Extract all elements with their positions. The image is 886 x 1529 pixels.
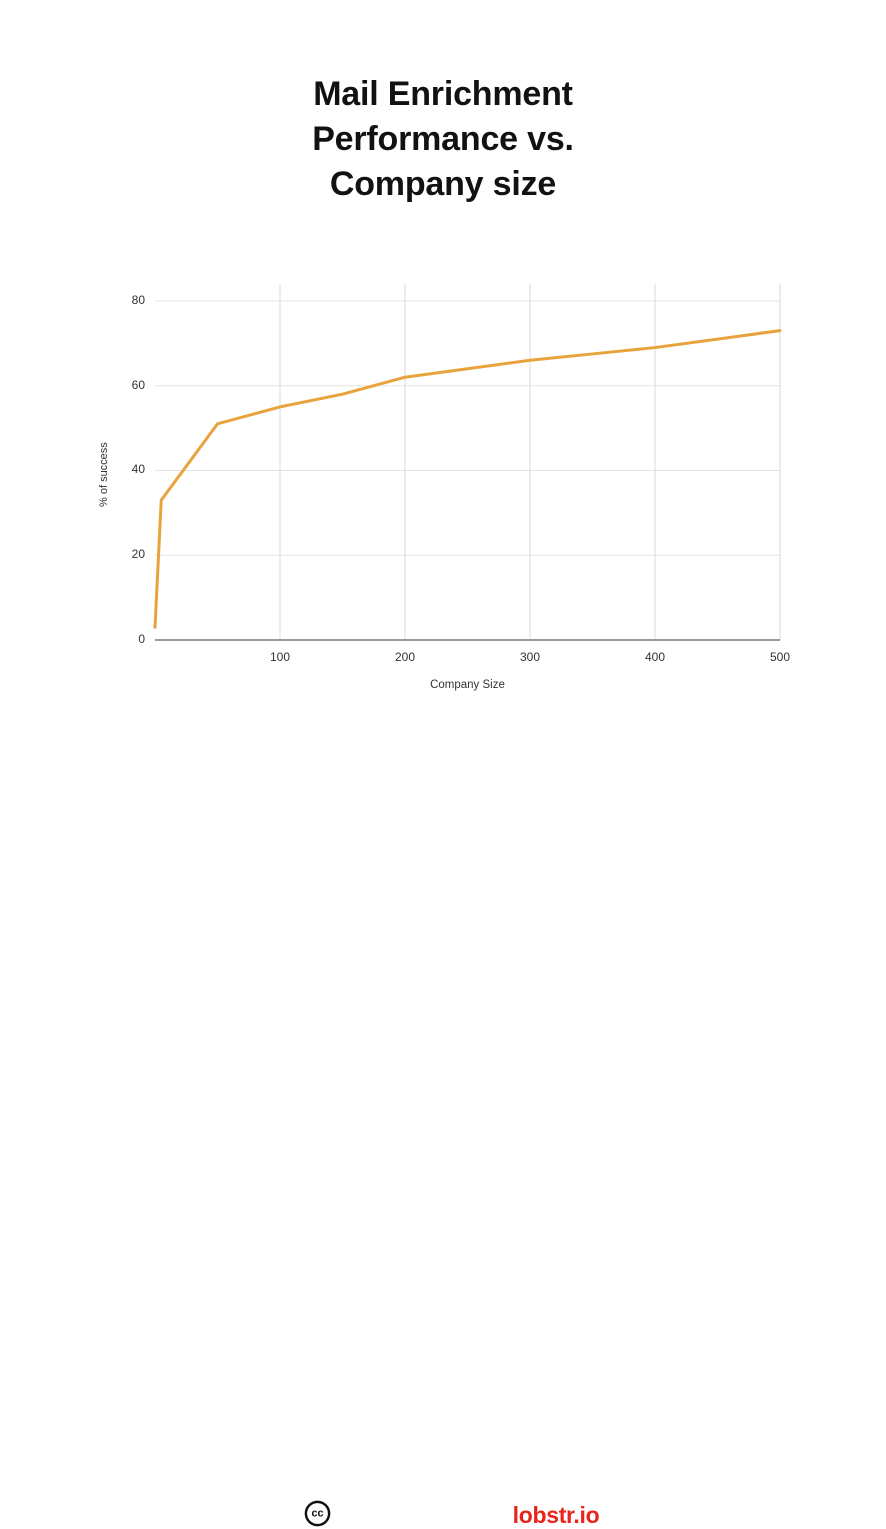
data-series-line xyxy=(155,331,780,628)
x-tick-label: 100 xyxy=(255,650,305,664)
x-tick-label: 200 xyxy=(380,650,430,664)
x-tick-label: 400 xyxy=(630,650,680,664)
y-tick-label: 20 xyxy=(111,547,145,561)
svg-text:cc: cc xyxy=(311,1508,323,1520)
creative-commons-icon: cc xyxy=(304,1500,331,1527)
line-chart-plot xyxy=(0,0,886,730)
y-tick-label: 80 xyxy=(111,293,145,307)
y-tick-label: 40 xyxy=(111,462,145,476)
x-tick-label: 300 xyxy=(505,650,555,664)
series-layer xyxy=(155,331,780,628)
footer: cc lobstr.io xyxy=(0,745,886,805)
chart-page: Mail Enrichment Performance vs. Company … xyxy=(0,0,886,860)
brand-wordmark: lobstr.io xyxy=(396,1502,716,1529)
x-tick-label: 500 xyxy=(755,650,805,664)
gridlines xyxy=(155,284,780,640)
chart-container: % of success Company Size 020406080 1002… xyxy=(0,0,886,730)
x-axis-label: Company Size xyxy=(155,679,780,691)
y-tick-label: 60 xyxy=(111,378,145,392)
y-tick-label: 0 xyxy=(111,632,145,646)
